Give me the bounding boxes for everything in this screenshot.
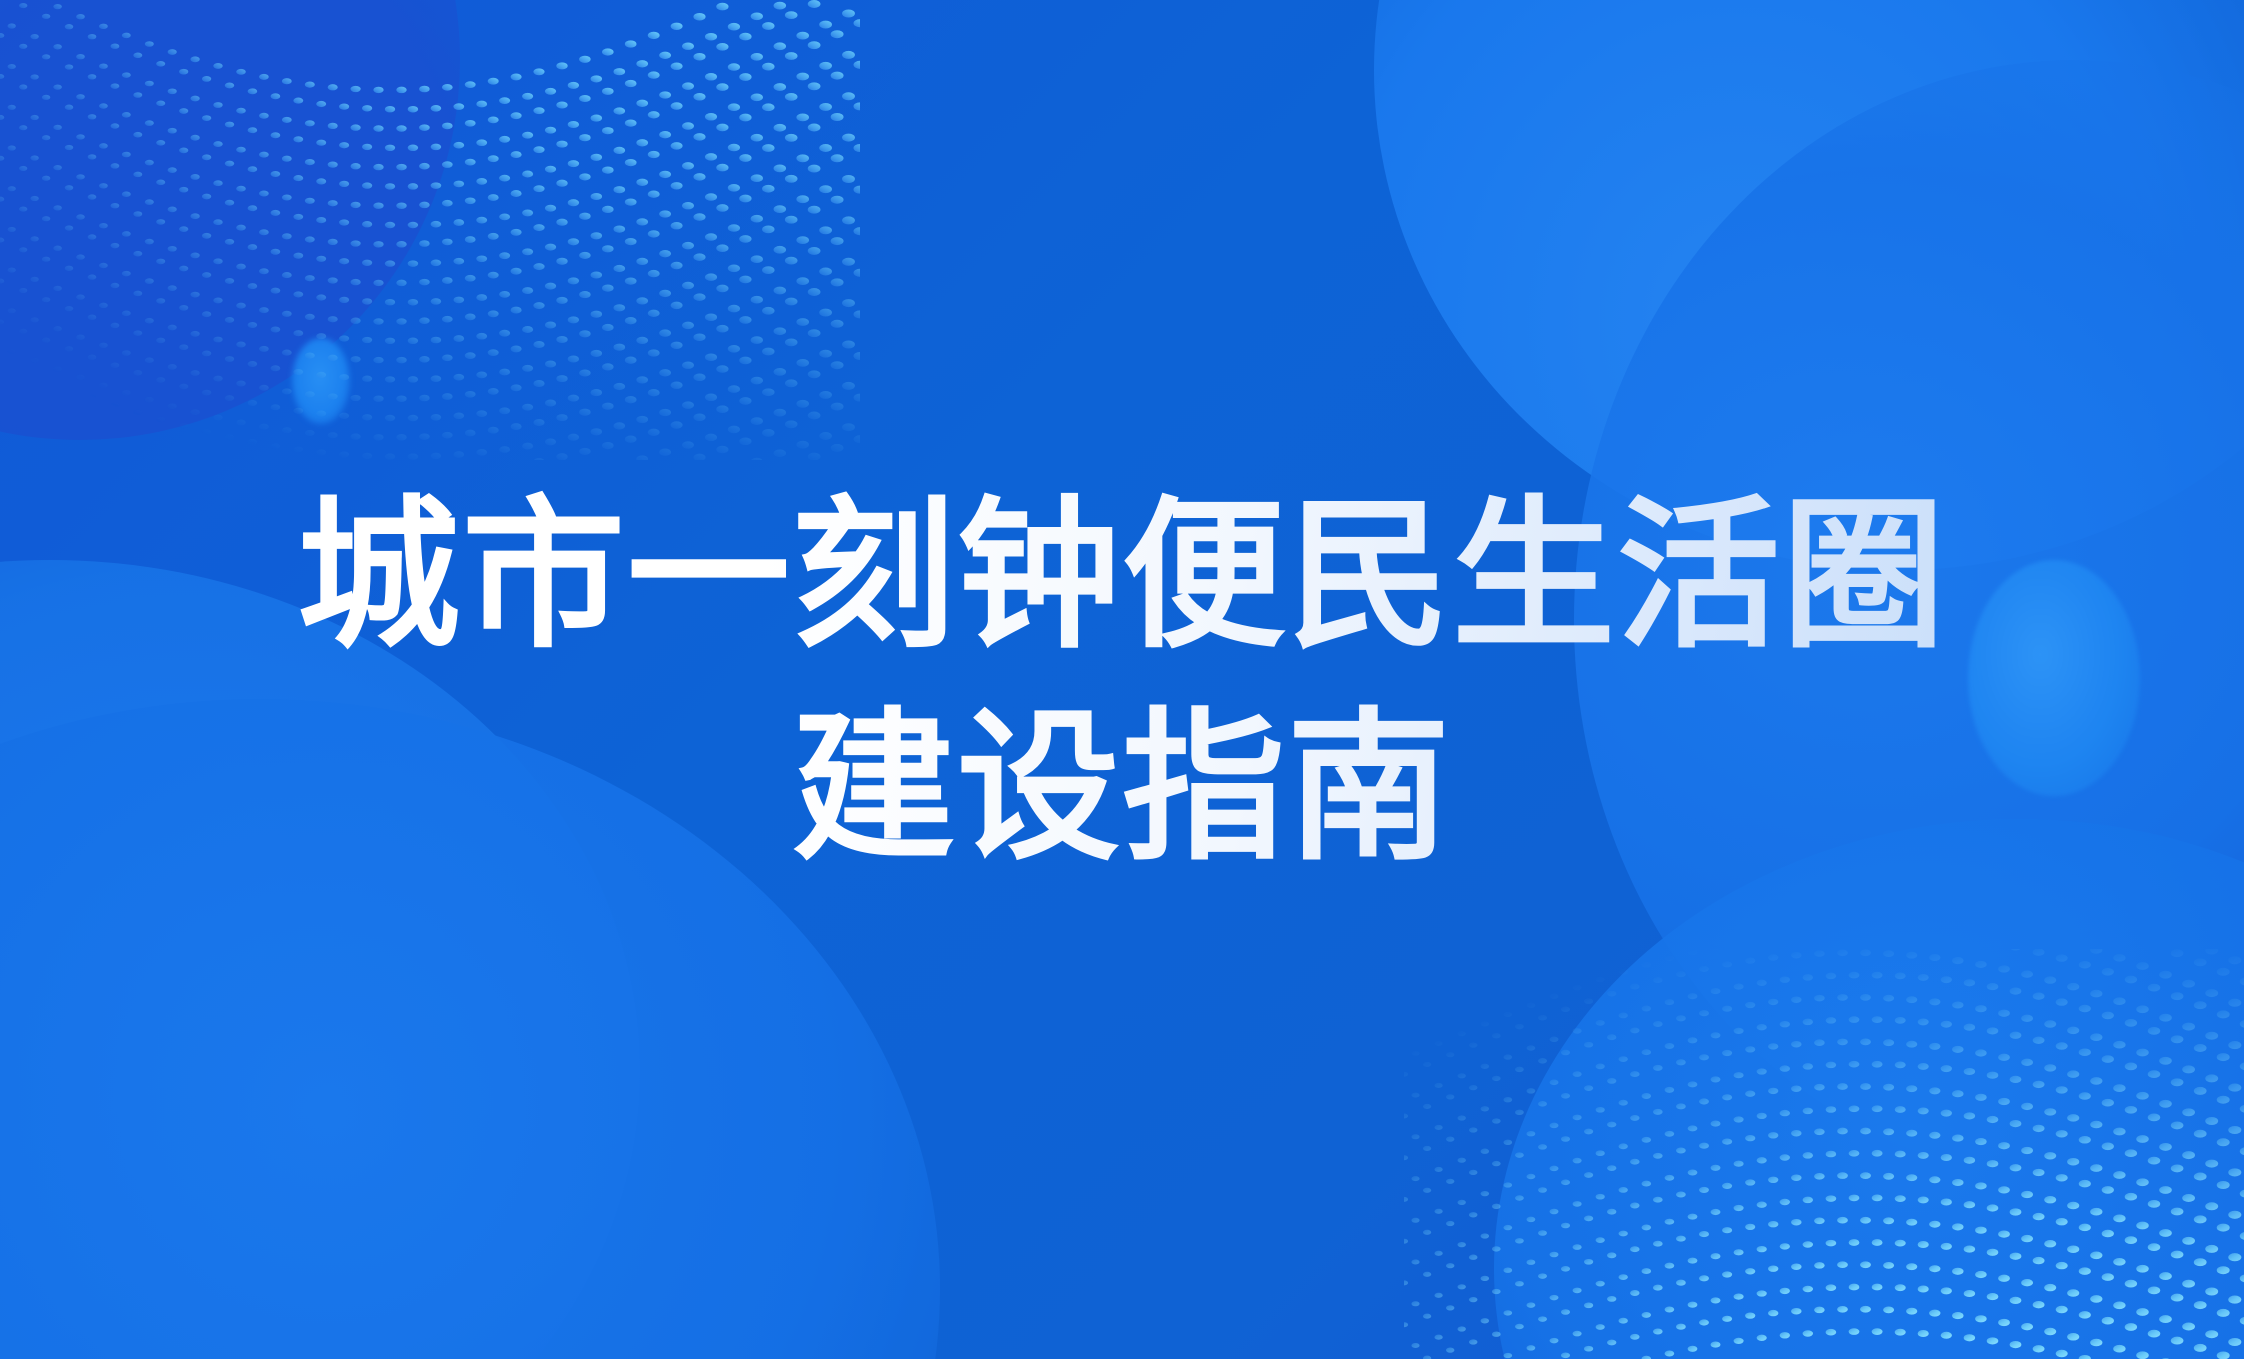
halftone-dots-bottomright-icon xyxy=(1404,949,2244,1359)
poster-title-line-2: 建设指南 xyxy=(0,682,2244,894)
poster-headline: 城市一刻钟便民生活圈 建设指南 xyxy=(0,470,2244,894)
halftone-dots-topleft-icon xyxy=(0,0,860,460)
poster-canvas: 城市一刻钟便民生活圈 建设指南 xyxy=(0,0,2244,1359)
ellipse-small-left-accent-shape xyxy=(292,338,350,424)
poster-title-line-1: 城市一刻钟便民生活圈 xyxy=(0,470,2244,682)
blob-bottomright-shape xyxy=(1494,819,2244,1359)
blob-topleft-dark-shape xyxy=(0,0,460,440)
